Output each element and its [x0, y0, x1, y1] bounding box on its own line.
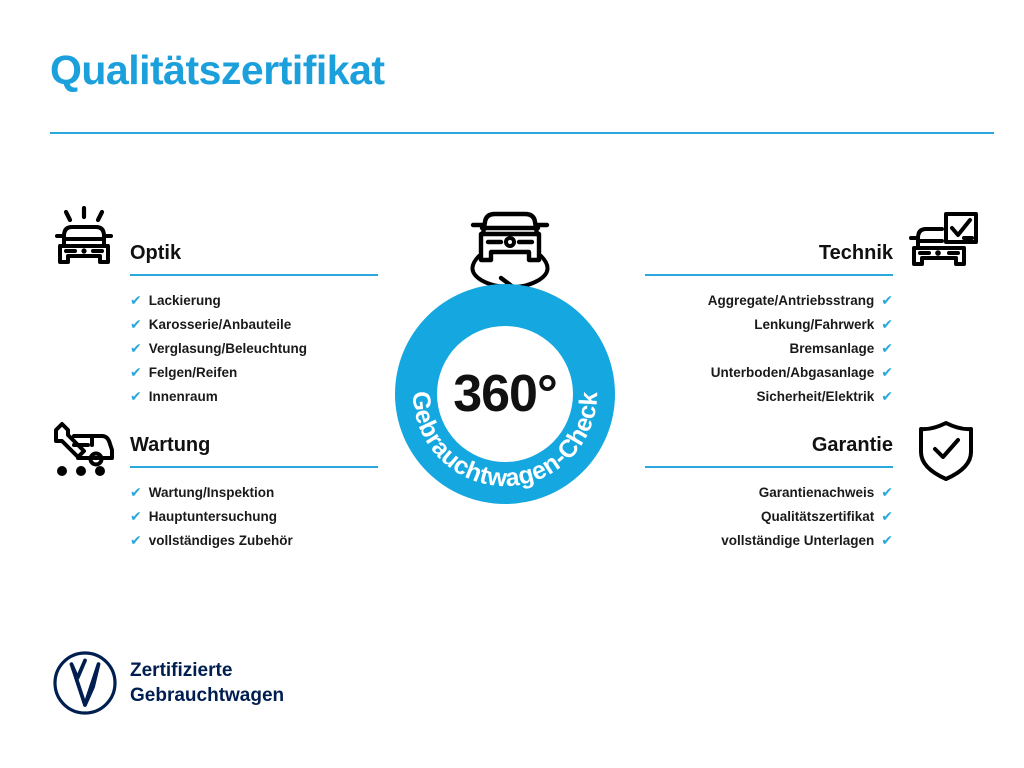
check-icon: ✔	[130, 485, 142, 499]
section-title: Technik	[645, 240, 893, 266]
check-icon: ✔	[881, 365, 893, 379]
check-icon: ✔	[130, 317, 142, 331]
list-item: Aggregate/Antriebsstrang✔	[645, 289, 893, 313]
section-wartung: Wartung ✔Wartung/Inspektion ✔Hauptunters…	[130, 432, 378, 553]
list-item-label: Felgen/Reifen	[149, 361, 238, 385]
list-item-label: Wartung/Inspektion	[149, 481, 275, 505]
section-divider	[645, 466, 893, 468]
list-item: Unterboden/Abgasanlage✔	[645, 361, 893, 385]
check-icon: ✔	[881, 293, 893, 307]
list-item: ✔Karosserie/Anbauteile	[130, 313, 378, 337]
section-list: ✔Wartung/Inspektion ✔Hauptuntersuchung ✔…	[130, 481, 378, 553]
title-divider	[50, 132, 994, 134]
footer-brand-text: Zertifizierte Gebrauchtwagen	[130, 658, 284, 708]
list-item-label: Lackierung	[149, 289, 221, 313]
list-item-label: vollständiges Zubehör	[149, 529, 293, 553]
list-item: ✔Innenraum	[130, 385, 378, 409]
list-item-label: Bremsanlage	[789, 337, 874, 361]
list-item-label: Sicherheit/Elektrik	[756, 385, 874, 409]
list-item: Bremsanlage✔	[645, 337, 893, 361]
check-icon: ✔	[130, 389, 142, 403]
section-divider	[645, 274, 893, 276]
list-item: vollständige Unterlagen✔	[645, 529, 893, 553]
list-item: Lenkung/Fahrwerk✔	[645, 313, 893, 337]
check-icon: ✔	[130, 533, 142, 547]
list-item-label: Aggregate/Antriebsstrang	[708, 289, 875, 313]
gebrauchtwagen-check-badge: Gebrauchtwagen-Check 360°	[379, 268, 631, 520]
check-icon: ✔	[881, 485, 893, 499]
car-service-tool-icon	[48, 418, 120, 480]
badge-center-label: 360°	[379, 364, 631, 424]
list-item: ✔vollständiges Zubehör	[130, 529, 378, 553]
section-optik: Optik ✔Lackierung ✔Karosserie/Anbauteile…	[130, 240, 378, 409]
list-item-label: Innenraum	[149, 385, 218, 409]
section-header: Wartung	[130, 432, 378, 468]
list-item-label: Garantienachweis	[759, 481, 875, 505]
check-icon: ✔	[130, 365, 142, 379]
check-icon: ✔	[881, 509, 893, 523]
section-divider	[130, 274, 378, 276]
section-list: Aggregate/Antriebsstrang✔ Lenkung/Fahrwe…	[645, 289, 893, 409]
section-list: Garantienachweis✔ Qualitätszertifikat✔ v…	[645, 481, 893, 553]
list-item: Qualitätszertifikat✔	[645, 505, 893, 529]
car-polish-icon	[48, 206, 120, 272]
section-divider	[130, 466, 378, 468]
check-icon: ✔	[881, 317, 893, 331]
section-technik: Technik Aggregate/Antriebsstrang✔ Lenkun…	[645, 240, 893, 409]
section-title: Wartung	[130, 432, 378, 458]
list-item-label: Karosserie/Anbauteile	[149, 313, 292, 337]
section-header: Optik	[130, 240, 378, 276]
check-icon: ✔	[130, 509, 142, 523]
list-item: Sicherheit/Elektrik✔	[645, 385, 893, 409]
footer-line-2: Gebrauchtwagen	[130, 683, 284, 708]
shield-check-icon	[915, 418, 977, 484]
section-header: Technik	[645, 240, 893, 276]
list-item: ✔Hauptuntersuchung	[130, 505, 378, 529]
car-checkbox-icon	[906, 210, 982, 274]
check-icon: ✔	[881, 533, 893, 547]
check-icon: ✔	[130, 341, 142, 355]
page-title: Qualitätszertifikat	[50, 50, 385, 91]
check-icon: ✔	[881, 341, 893, 355]
list-item-label: Verglasung/Beleuchtung	[149, 337, 307, 361]
list-item: ✔Wartung/Inspektion	[130, 481, 378, 505]
list-item-label: Lenkung/Fahrwerk	[754, 313, 874, 337]
list-item: ✔Felgen/Reifen	[130, 361, 378, 385]
section-title: Optik	[130, 240, 378, 266]
list-item-label: Qualitätszertifikat	[761, 505, 874, 529]
check-icon: ✔	[130, 293, 142, 307]
section-garantie: Garantie Garantienachweis✔ Qualitätszert…	[645, 432, 893, 553]
check-icon: ✔	[881, 389, 893, 403]
section-list: ✔Lackierung ✔Karosserie/Anbauteile ✔Verg…	[130, 289, 378, 409]
list-item-label: Unterboden/Abgasanlage	[711, 361, 875, 385]
list-item: ✔Verglasung/Beleuchtung	[130, 337, 378, 361]
list-item: Garantienachweis✔	[645, 481, 893, 505]
vw-logo	[52, 650, 118, 716]
section-title: Garantie	[645, 432, 893, 458]
section-header: Garantie	[645, 432, 893, 468]
list-item: ✔Lackierung	[130, 289, 378, 313]
list-item-label: vollständige Unterlagen	[721, 529, 874, 553]
footer-line-1: Zertifizierte	[130, 658, 284, 683]
list-item-label: Hauptuntersuchung	[149, 505, 277, 529]
